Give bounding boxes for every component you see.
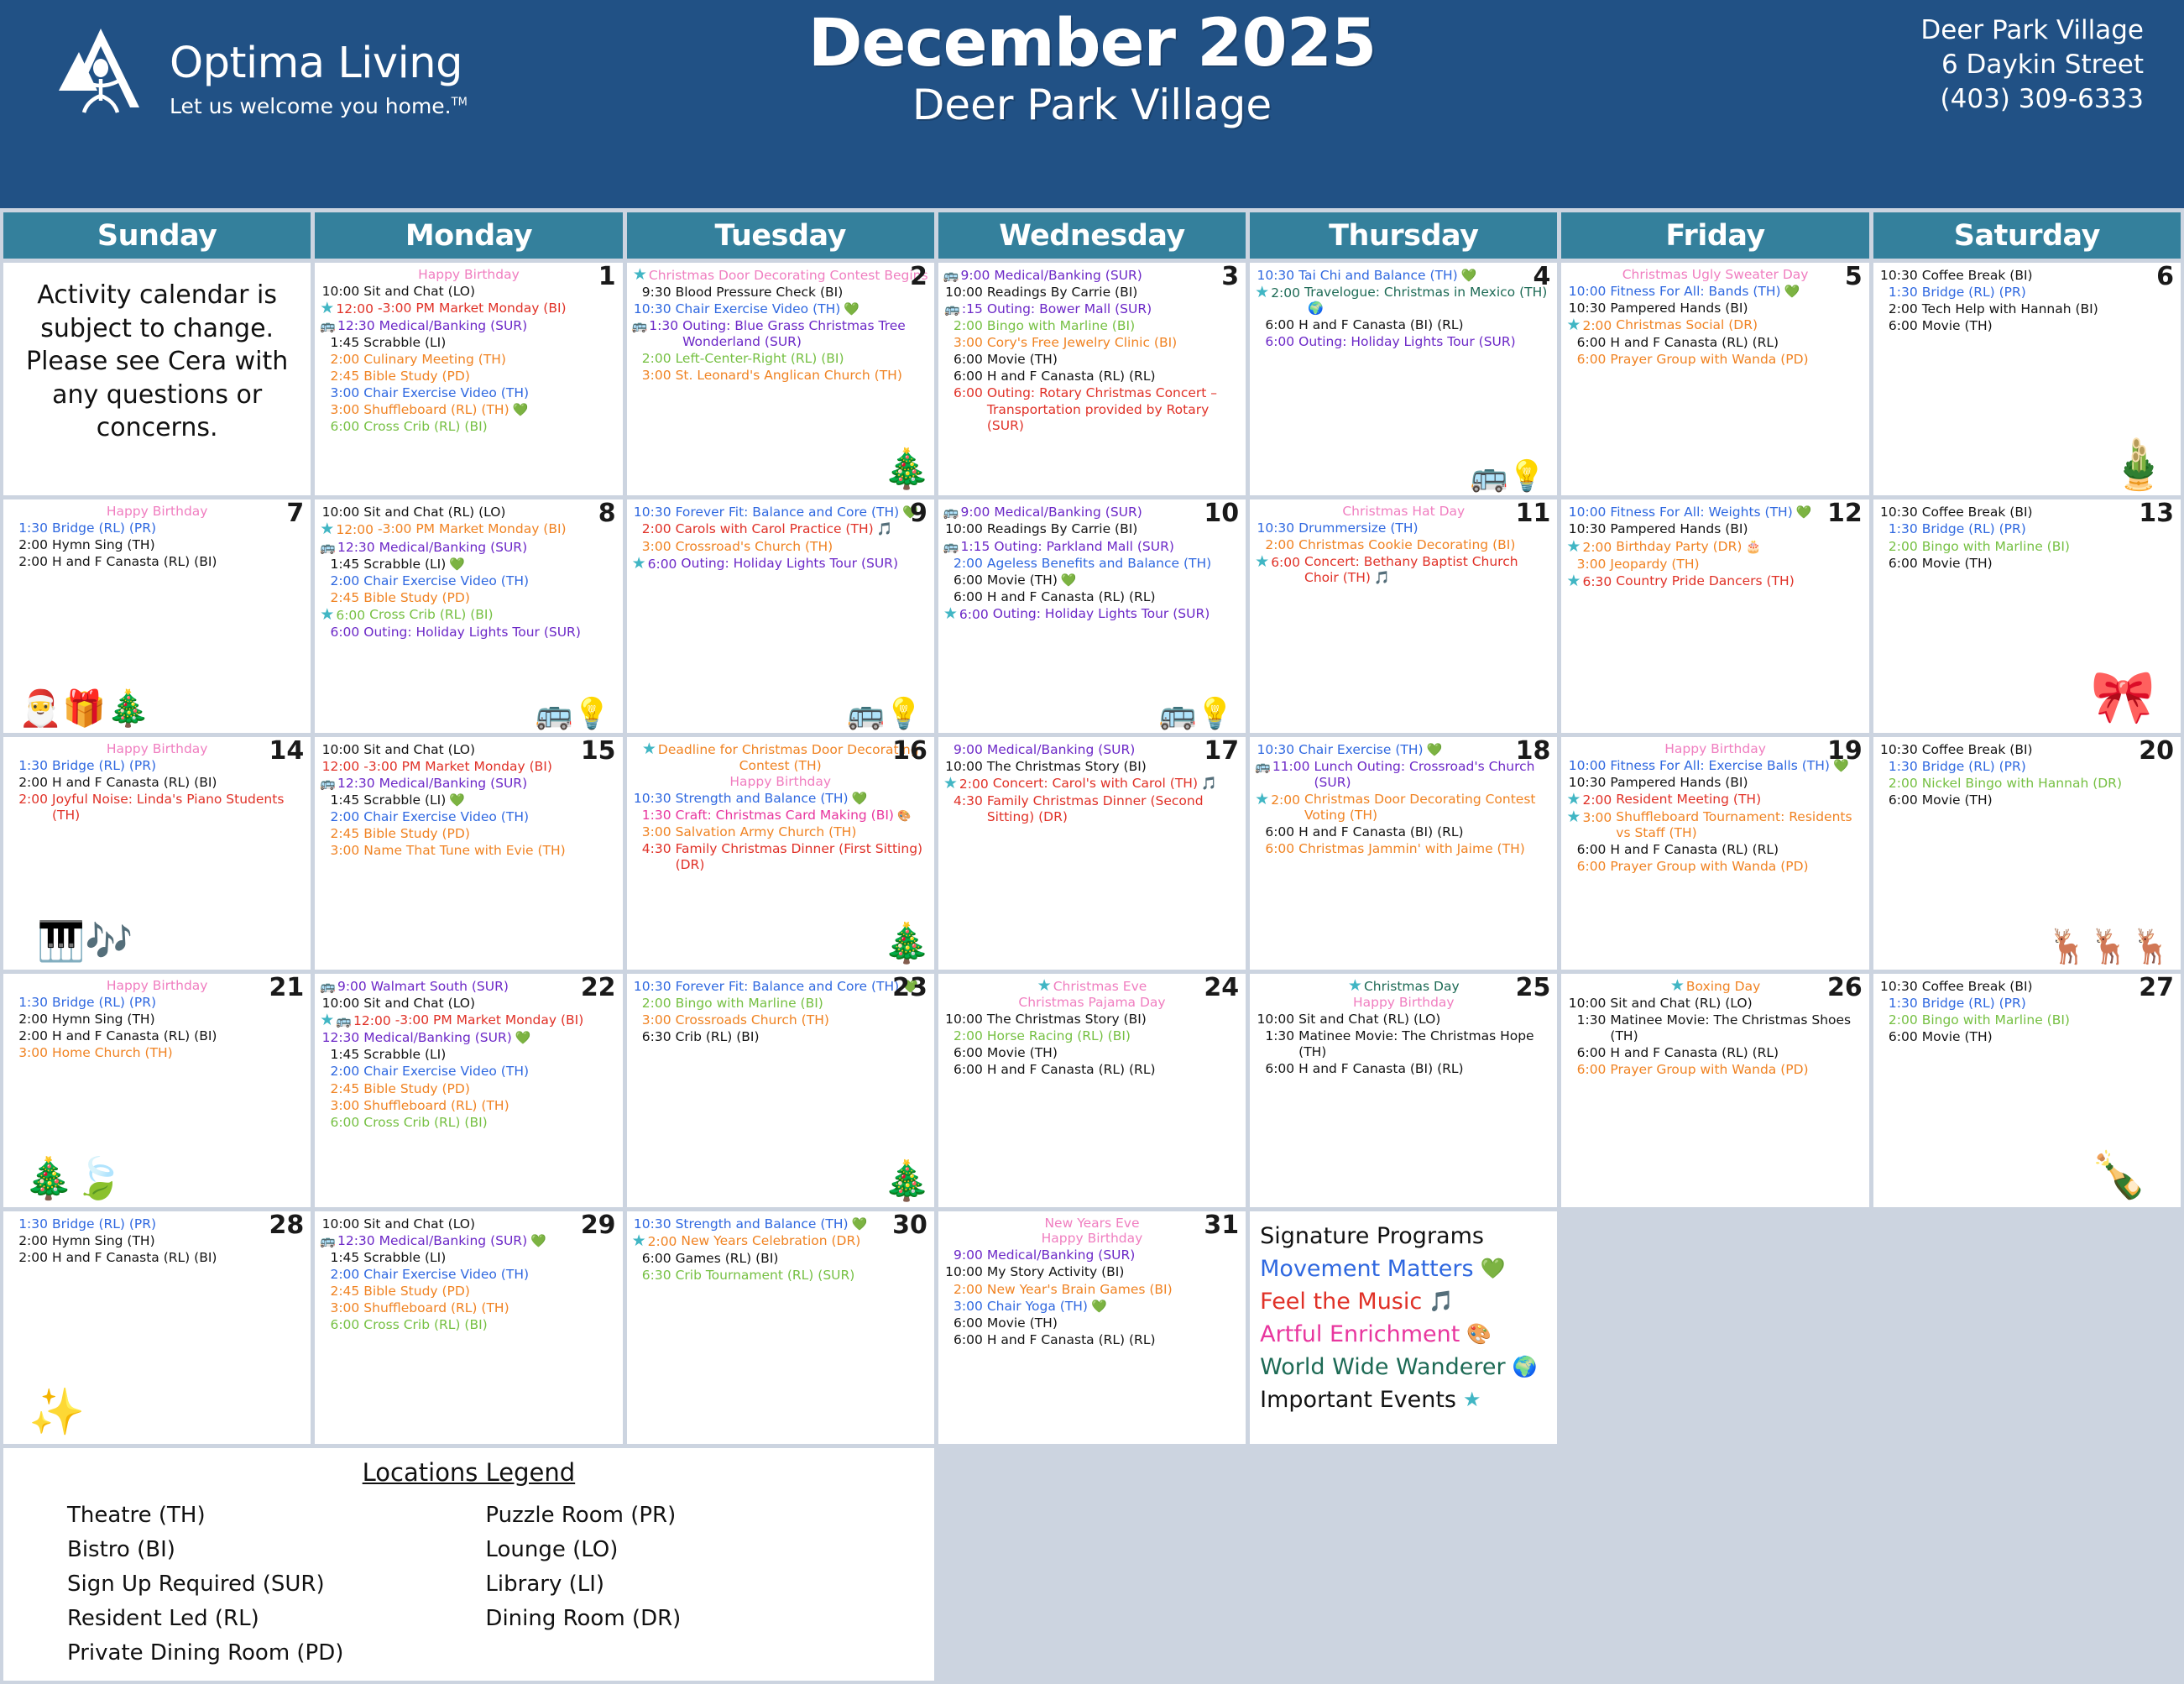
- event-title: Outing: Holiday Lights Tour (SUR): [363, 625, 617, 641]
- event-row[interactable]: 6:00Outing: Holiday Lights Tour (SUR): [1255, 334, 1552, 350]
- event-time: 1:30: [1566, 1012, 1610, 1044]
- event-time: 2:00: [632, 351, 676, 367]
- event-row[interactable]: ★2:00Christmas Social (DR): [1566, 317, 1863, 334]
- bus-icon: 🚌: [943, 539, 959, 554]
- location-legend-item: Private Dining Room (PD): [67, 1636, 452, 1671]
- event-row[interactable]: 6:00H and F Canasta (RL) (RL): [1566, 335, 1863, 351]
- event-row[interactable]: 2:00Chair Exercise Video (TH): [320, 809, 617, 825]
- day-cell-9[interactable]: 910:30Forever Fit: Balance and Core (TH)…: [627, 499, 934, 732]
- event-row[interactable]: 10:30Pampered Hands (BI): [1566, 775, 1863, 791]
- day-cell-20[interactable]: 2010:30Coffee Break (BI)1:30Bridge (RL) …: [1873, 737, 2181, 970]
- event-row[interactable]: 3:00Shuffleboard (RL) (TH)💚: [320, 402, 617, 418]
- day-cell-5[interactable]: 5Christmas Ugly Sweater Day10:00Fitness …: [1561, 263, 1868, 495]
- event-time: 10:00: [943, 1264, 987, 1280]
- event-row[interactable]: 1:45Scrabble (LI): [320, 335, 617, 351]
- day-cell-26[interactable]: 26★Boxing Day10:00Sit and Chat (RL) (LO)…: [1561, 974, 1868, 1206]
- event-title: Bingo with Marline (BI): [1922, 539, 2176, 555]
- event-row[interactable]: 1:30Bridge (RL) (PR): [1878, 996, 2176, 1012]
- event-row[interactable]: 10:00Sit and Chat (RL) (LO): [1255, 1012, 1552, 1028]
- day-cell-17[interactable]: 179:00Medical/Banking (SUR)10:00The Chri…: [938, 737, 1246, 970]
- event-time: 10:30: [632, 979, 676, 995]
- event-time: 2:00: [1878, 539, 1922, 555]
- event-title: Cross Crib (RL) (BI): [369, 607, 617, 624]
- star-icon: ★: [1348, 976, 1362, 995]
- day-cell-19[interactable]: 19Happy Birthday10:00Fitness For All: Ex…: [1561, 737, 1868, 970]
- event-row[interactable]: 2:00Christmas Cookie Decorating (BI): [1255, 537, 1552, 553]
- event-row[interactable]: 1:30Bridge (RL) (PR): [1878, 285, 2176, 301]
- event-row[interactable]: 9:00Medical/Banking (SUR): [943, 1247, 1241, 1263]
- event-row[interactable]: 6:00Prayer Group with Wanda (PD): [1566, 1062, 1863, 1078]
- event-row[interactable]: ★2:00New Years Celebration (DR): [632, 1233, 929, 1250]
- locations-legend-column-1: Theatre (TH)Bistro (BI)Sign Up Required …: [67, 1498, 452, 1671]
- event-row[interactable]: 6:00Movie (TH): [943, 1045, 1241, 1061]
- day-cell-27[interactable]: 2710:30Coffee Break (BI)1:30Bridge (RL) …: [1873, 974, 2181, 1206]
- heart-leaf-icon: 💚: [513, 402, 529, 417]
- event-time: 10:30: [632, 791, 676, 807]
- event-row[interactable]: 2:00H and F Canasta (RL) (BI): [8, 775, 306, 791]
- decorative-merry-icon: 🎄🍃: [24, 1154, 124, 1202]
- day-cell-29[interactable]: 2910:00Sit and Chat (LO)🚌12:30Medical/Ba…: [315, 1211, 622, 1444]
- event-row[interactable]: 3:00Salvation Army Church (TH): [632, 824, 929, 840]
- event-row[interactable]: 3:00Cory's Free Jewelry Clinic (BI): [943, 335, 1241, 351]
- event-row[interactable]: 1:30Bridge (RL) (PR): [8, 758, 306, 774]
- event-time: 6:00: [1566, 1045, 1610, 1061]
- event-row[interactable]: 10:30Strength and Balance (TH)💚: [632, 1216, 929, 1232]
- event-title: Shuffleboard (RL) (TH): [363, 1098, 617, 1114]
- event-row[interactable]: ★2:00Travelogue: Christmas in Mexico (TH…: [1255, 285, 1552, 316]
- event-time: 6:00: [1255, 334, 1298, 350]
- event-row[interactable]: 10:00Readings By Carrie (BI): [943, 285, 1241, 301]
- event-title: Movie (TH)💚: [987, 573, 1241, 588]
- day-cell-10[interactable]: 10🚌9:00Medical/Banking (SUR)10:00Reading…: [938, 499, 1246, 732]
- event-title: H and F Canasta (RL) (BI): [52, 1250, 306, 1266]
- event-row[interactable]: 10:00Sit and Chat (LO): [320, 996, 617, 1012]
- event-row[interactable]: 2:00Tech Help with Hannah (BI): [1878, 301, 2176, 317]
- event-time: 10:00: [943, 1012, 987, 1028]
- day-cell-6[interactable]: 610:30Coffee Break (BI)1:30Bridge (RL) (…: [1873, 263, 2181, 495]
- event-row[interactable]: 10:30Coffee Break (BI): [1878, 268, 2176, 284]
- event-row[interactable]: 6:00H and F Canasta (RL) (RL): [943, 369, 1241, 384]
- day-cell-13[interactable]: 1310:30Coffee Break (BI)1:30Bridge (RL) …: [1873, 499, 2181, 732]
- day-cell-23[interactable]: 2310:30Forever Fit: Balance and Core (TH…: [627, 974, 934, 1206]
- event-row[interactable]: 6:00H and F Canasta (RL) (RL): [1566, 1045, 1863, 1061]
- event-row[interactable]: 🚌1:15Outing: Parkland Mall (SUR): [943, 539, 1241, 555]
- event-time: 6:30: [632, 1029, 676, 1045]
- day-cell-30[interactable]: 3010:30Strength and Balance (TH)💚★2:00Ne…: [627, 1211, 934, 1444]
- event-title: Tech Help with Hannah (BI): [1922, 301, 2176, 317]
- event-row[interactable]: 6:00Cross Crib (RL) (BI): [320, 1115, 617, 1131]
- event-row[interactable]: 2:00Culinary Meeting (TH): [320, 352, 617, 368]
- event-row[interactable]: 2:00H and F Canasta (RL) (BI): [8, 554, 306, 570]
- event-row[interactable]: 🚌9:00Medical/Banking (SUR): [943, 268, 1241, 284]
- event-time: 3:00: [320, 385, 363, 401]
- star-icon: ★: [320, 605, 334, 624]
- event-time: 🚌1:15: [943, 539, 995, 555]
- event-row[interactable]: ★6:00Cross Crib (RL) (BI): [320, 607, 617, 624]
- event-title: Christmas Social (DR): [1616, 317, 1863, 334]
- day-cell-18[interactable]: 1810:30Chair Exercise (TH)💚🚌11:00Lunch O…: [1250, 737, 1557, 970]
- event-row[interactable]: 10:30Chair Exercise (TH)💚: [1255, 742, 1552, 758]
- signature-program-item: Movement Matters💚: [1260, 1253, 1547, 1285]
- event-row[interactable]: 12:00-3:00 PM Market Monday (BI): [320, 759, 617, 775]
- event-row[interactable]: 6:00H and F Canasta (RL) (RL): [1566, 842, 1863, 858]
- event-row[interactable]: ★2:00Christmas Door Decorating Contest V…: [1255, 792, 1552, 824]
- day-banner: Happy Birthday: [943, 1231, 1241, 1247]
- event-row[interactable]: 6:00H and F Canasta (BI) (RL): [1255, 1061, 1552, 1077]
- event-time: 1:30: [632, 808, 676, 824]
- event-row[interactable]: 10:00My Story Activity (BI): [943, 1264, 1241, 1280]
- event-row[interactable]: 6:00H and F Canasta (RL) (RL): [943, 589, 1241, 605]
- signature-programs-title: Signature Programs: [1260, 1220, 1547, 1253]
- event-row[interactable]: 2:45Bible Study (PD): [320, 1081, 617, 1097]
- event-row[interactable]: 6:00Christmas Jammin' with Jaime (TH): [1255, 841, 1552, 857]
- event-title: Chair Exercise Video (TH): [363, 809, 617, 825]
- event-row[interactable]: 2:00Bingo with Marline (BI): [943, 318, 1241, 334]
- day-cell-7[interactable]: 7Happy Birthday1:30Bridge (RL) (PR)2:00H…: [3, 499, 311, 732]
- event-row[interactable]: 10:30Coffee Break (BI): [1878, 742, 2176, 758]
- decorative-champagne-icon: 🍾: [2091, 1149, 2147, 1202]
- event-row[interactable]: 10:00Sit and Chat (RL) (LO): [1566, 996, 1863, 1012]
- day-banner: ★Christmas Eve: [943, 978, 1241, 995]
- event-row[interactable]: 🚌12:30Medical/Banking (SUR): [320, 776, 617, 792]
- day-cell-31[interactable]: 31New Years EveHappy Birthday9:00Medical…: [938, 1211, 1246, 1444]
- event-row[interactable]: 10:00Sit and Chat (LO): [320, 284, 617, 300]
- event-row[interactable]: 4:30Family Christmas Dinner (Second Sitt…: [943, 793, 1241, 825]
- page-header: Optima Living Let us welcome you home.TM…: [0, 0, 2184, 208]
- event-row[interactable]: 10:30Coffee Break (BI): [1878, 979, 2176, 995]
- event-row[interactable]: 10:30Pampered Hands (BI): [1566, 521, 1863, 537]
- star-icon: ★: [1255, 283, 1269, 301]
- event-row[interactable]: 2:00Hymn Sing (TH): [8, 1233, 306, 1249]
- event-row[interactable]: 4:30Family Christmas Dinner (First Sitti…: [632, 841, 929, 873]
- day-number: 21: [269, 975, 305, 1001]
- event-time: 10:00: [320, 284, 363, 300]
- event-row[interactable]: 2:00Bingo with Marline (BI): [632, 996, 929, 1012]
- day-cell-22[interactable]: 22🚌9:00Walmart South (SUR)10:00Sit and C…: [315, 974, 622, 1206]
- event-time: 3:00: [943, 1299, 987, 1315]
- event-title: Crib Tournament (RL) (SUR): [676, 1268, 929, 1284]
- day-cell-3[interactable]: 3🚌9:00Medical/Banking (SUR)10:00Readings…: [938, 263, 1246, 495]
- day-cell-2[interactable]: 2★Christmas Door Decorating Contest Begi…: [627, 263, 934, 495]
- event-time: 2:00: [8, 537, 52, 553]
- event-row[interactable]: 2:00Bingo with Marline (BI): [1878, 1012, 2176, 1028]
- day-cell-15[interactable]: 1510:00Sit and Chat (LO)12:00-3:00 PM Ma…: [315, 737, 622, 970]
- event-row[interactable]: 6:00Prayer Group with Wanda (PD): [1566, 352, 1863, 368]
- day-cell-24[interactable]: 24★Christmas EveChristmas Pajama Day10:0…: [938, 974, 1246, 1206]
- bus-icon: 🚌: [943, 268, 959, 283]
- event-row[interactable]: 2:00H and F Canasta (RL) (BI): [8, 1028, 306, 1044]
- day-cell-8[interactable]: 810:00Sit and Chat (RL) (LO)★12:00-3:00 …: [315, 499, 622, 732]
- event-row[interactable]: ★6:00Outing: Holiday Lights Tour (SUR): [632, 556, 929, 573]
- event-row[interactable]: 1:30Bridge (RL) (PR): [8, 1216, 306, 1232]
- event-row[interactable]: 1:45Scrabble (LI)💚: [320, 792, 617, 808]
- event-row[interactable]: 🚌11:00Lunch Outing: Crossroad's Church (…: [1255, 759, 1552, 791]
- event-row[interactable]: 2:00Chair Exercise Video (TH): [320, 1064, 617, 1080]
- star-icon: ★: [1566, 537, 1581, 556]
- heart-music-icon: 🎵: [1201, 776, 1217, 791]
- event-row[interactable]: ★12:00-3:00 PM Market Monday (BI): [320, 301, 617, 317]
- event-row[interactable]: 6:00Movie (TH): [943, 1315, 1241, 1331]
- event-row[interactable]: 6:00Movie (TH): [1878, 556, 2176, 572]
- event-row[interactable]: 2:00H and F Canasta (RL) (BI): [8, 1250, 306, 1266]
- event-time: 10:30: [1878, 505, 1922, 520]
- event-row[interactable]: 2:00Ageless Benefits and Balance (TH): [943, 556, 1241, 572]
- event-row[interactable]: 6:00Movie (TH): [1878, 792, 2176, 808]
- event-title: Cory's Free Jewelry Clinic (BI): [987, 335, 1241, 351]
- day-cell-14[interactable]: 14Happy Birthday1:30Bridge (RL) (PR)2:00…: [3, 737, 311, 970]
- event-row[interactable]: 2:45Bible Study (PD): [320, 369, 617, 384]
- event-row[interactable]: ★6:00Outing: Holiday Lights Tour (SUR): [943, 606, 1241, 623]
- event-row[interactable]: ★12:00-3:00 PM Market Monday (BI): [320, 521, 617, 538]
- event-row[interactable]: ★2:00Resident Meeting (TH): [1566, 792, 1863, 808]
- event-row[interactable]: 9:00Medical/Banking (SUR): [943, 742, 1241, 758]
- day-number: 13: [2139, 501, 2174, 526]
- event-row[interactable]: 6:00Cross Crib (RL) (BI): [320, 1317, 617, 1333]
- star-icon: ★: [1566, 572, 1581, 590]
- location-legend-item: Library (LI): [485, 1567, 870, 1602]
- event-row[interactable]: 3:00Shuffleboard (RL) (TH): [320, 1098, 617, 1114]
- event-row[interactable]: 10:30Pampered Hands (BI): [1566, 301, 1863, 316]
- optima-living-logo: Optima Living Let us welcome you home.TM: [49, 24, 468, 118]
- heart-leaf-icon: 💚: [1784, 284, 1800, 299]
- event-row[interactable]: 10:00Fitness For All: Exercise Balls (TH…: [1566, 758, 1863, 774]
- calendar-page: Optima Living Let us welcome you home.TM…: [0, 0, 2184, 1405]
- event-row[interactable]: 10:30Strength and Balance (TH)💚: [632, 791, 929, 807]
- day-cell-1[interactable]: 1Happy Birthday10:00Sit and Chat (LO)★12…: [315, 263, 622, 495]
- decorative-wreath-icon: 🎄: [883, 1158, 931, 1204]
- event-title: Cross Crib (RL) (BI): [363, 1317, 617, 1333]
- event-time: 2:00: [320, 809, 363, 825]
- event-title: Outing: Blue Grass Christmas Tree Wonder…: [682, 318, 929, 350]
- event-row[interactable]: 6:00Outing: Holiday Lights Tour (SUR): [320, 625, 617, 641]
- event-title: Outing: Holiday Lights Tour (SUR): [681, 556, 928, 573]
- signature-program-label: World Wide Wanderer: [1260, 1351, 1506, 1383]
- event-row[interactable]: 10:30Chair Exercise Video (TH)💚: [632, 301, 929, 317]
- event-row[interactable]: 3:00Shuffleboard (RL) (TH): [320, 1300, 617, 1316]
- event-title: H and F Canasta (RL) (BI): [52, 554, 306, 570]
- event-row[interactable]: 2:00Hymn Sing (TH): [8, 537, 306, 553]
- event-title: Coffee Break (BI): [1922, 742, 2176, 758]
- event-time: ★2:00: [1255, 285, 1304, 316]
- event-row[interactable]: 3:00Home Church (TH): [8, 1045, 306, 1061]
- event-row[interactable]: 10:30Tai Chi and Balance (TH)💚: [1255, 268, 1552, 284]
- event-row[interactable]: 6:30Crib Tournament (RL) (SUR): [632, 1268, 929, 1284]
- event-row[interactable]: 2:00Horse Racing (RL) (BI): [943, 1028, 1241, 1044]
- event-row[interactable]: 3:00Chair Exercise Video (TH): [320, 385, 617, 401]
- star-icon: ★: [1255, 552, 1269, 571]
- event-row[interactable]: 🚌9:00Walmart South (SUR): [320, 979, 617, 995]
- event-row[interactable]: 1:45Scrabble (LI)💚: [320, 557, 617, 573]
- event-time: 3:00: [320, 1300, 363, 1316]
- event-row[interactable]: 10:00Sit and Chat (LO): [320, 1216, 617, 1232]
- event-row[interactable]: ★2:00Concert: Carol's with Carol (TH)🎵: [943, 776, 1241, 792]
- event-row[interactable]: 3:00Name That Tune with Evie (TH): [320, 843, 617, 859]
- event-row[interactable]: 10:00Sit and Chat (RL) (LO): [320, 505, 617, 520]
- event-title: Travelogue: Christmas in Mexico (TH)🌍: [1304, 285, 1552, 316]
- event-time: 2:45: [320, 369, 363, 384]
- event-row[interactable]: ★🚌12:00-3:00 PM Market Monday (BI): [320, 1012, 617, 1029]
- event-row[interactable]: 2:00Hymn Sing (TH): [8, 1012, 306, 1028]
- weekday-header-friday: Friday: [1561, 212, 1868, 259]
- event-row[interactable]: 2:00Bingo with Marline (BI): [1878, 539, 2176, 555]
- event-row[interactable]: 2:45Bible Study (PD): [320, 590, 617, 606]
- event-row[interactable]: 1:45Scrabble (LI): [320, 1047, 617, 1063]
- event-row[interactable]: 6:00Games (RL) (BI): [632, 1251, 929, 1267]
- event-title: H and F Canasta (RL) (RL): [987, 1062, 1241, 1078]
- event-row[interactable]: 10:00The Christmas Story (BI): [943, 1012, 1241, 1028]
- event-row[interactable]: 2:00Left-Center-Right (RL) (BI): [632, 351, 929, 367]
- event-time: 12:00: [320, 759, 363, 775]
- event-row[interactable]: 10:00The Christmas Story (BI): [943, 759, 1241, 775]
- event-row[interactable]: 1:30Matinee Movie: The Christmas Shoes (…: [1566, 1012, 1863, 1044]
- event-title: Fitness For All: Exercise Balls (TH)💚: [1610, 758, 1863, 774]
- event-row[interactable]: 1:45Scrabble (LI): [320, 1250, 617, 1266]
- event-time: 6:00: [1878, 556, 1922, 572]
- locations-legend-title: Locations Legend: [25, 1458, 912, 1487]
- event-title: Sit and Chat (RL) (LO): [363, 505, 617, 520]
- event-time: 1:30: [8, 995, 52, 1011]
- event-row[interactable]: 🚌1:30Outing: Blue Grass Christmas Tree W…: [632, 318, 929, 350]
- event-row[interactable]: 🚌9:00Medical/Banking (SUR): [943, 505, 1241, 520]
- event-row[interactable]: 10:00Readings By Carrie (BI): [943, 521, 1241, 537]
- day-banner: ★Christmas Day: [1255, 978, 1552, 995]
- event-row[interactable]: 2:00New Year's Brain Games (BI): [943, 1282, 1241, 1298]
- event-row[interactable]: 6:00Outing: Rotary Christmas Concert – T…: [943, 385, 1241, 433]
- event-row[interactable]: 2:00Nickel Bingo with Hannah (DR): [1878, 776, 2176, 792]
- event-row[interactable]: 🚌12:30Medical/Banking (SUR): [320, 318, 617, 334]
- event-row[interactable]: 6:00H and F Canasta (BI) (RL): [1255, 824, 1552, 840]
- event-row[interactable]: ★6:00Concert: Bethany Baptist Church Cho…: [1255, 554, 1552, 586]
- event-row[interactable]: 2:00Joyful Noise: Linda's Piano Students…: [8, 792, 306, 824]
- event-row[interactable]: 10:30Forever Fit: Balance and Core (TH)💚: [632, 505, 929, 520]
- event-title: Coffee Break (BI): [1922, 505, 2176, 520]
- event-row[interactable]: 6:00Prayer Group with Wanda (PD): [1566, 859, 1863, 875]
- day-banner: Happy Birthday: [8, 504, 306, 520]
- event-title: Scrabble (LI)💚: [363, 792, 617, 808]
- event-row[interactable]: 10:30Drummersize (TH): [1255, 520, 1552, 536]
- event-row[interactable]: 10:30Coffee Break (BI): [1878, 505, 2176, 520]
- event-row[interactable]: 2:45Bible Study (PD): [320, 1284, 617, 1300]
- event-time: 6:00: [1255, 317, 1298, 333]
- event-row[interactable]: 6:00H and F Canasta (BI) (RL): [1255, 317, 1552, 333]
- event-row[interactable]: 3:00Jeopardy (TH): [1566, 557, 1863, 573]
- event-row[interactable]: 3:00Crossroad's Church (TH): [632, 539, 929, 555]
- event-row[interactable]: 1:30Bridge (RL) (PR): [8, 520, 306, 536]
- event-row[interactable]: 10:00Sit and Chat (LO): [320, 742, 617, 758]
- event-time: ★2:00: [1255, 792, 1304, 824]
- event-row[interactable]: 2:00Chair Exercise Video (TH): [320, 573, 617, 589]
- event-row[interactable]: 3:00Chair Yoga (TH)💚: [943, 1299, 1241, 1315]
- event-title: Bridge (RL) (PR): [52, 520, 306, 536]
- event-title: Culinary Meeting (TH): [363, 352, 617, 368]
- day-cell-11[interactable]: 11Christmas Hat Day10:30Drummersize (TH)…: [1250, 499, 1557, 732]
- event-row[interactable]: 9:30Blood Pressure Check (BI): [632, 285, 929, 301]
- bus-icon: 🚌: [320, 776, 336, 791]
- event-time: 3:00: [320, 402, 363, 418]
- event-row[interactable]: 1:30Bridge (RL) (PR): [8, 995, 306, 1011]
- day-banner: Happy Birthday: [8, 741, 306, 757]
- event-title: -3:00 PM Market Monday (BI): [378, 521, 618, 538]
- event-time: ★🚌12:00: [320, 1012, 394, 1029]
- event-row[interactable]: 1:30Craft: Christmas Card Making (BI)🎨: [632, 808, 929, 824]
- day-number: 20: [2139, 739, 2174, 764]
- event-title: Sit and Chat (RL) (LO): [1610, 996, 1863, 1012]
- event-title: Movie (TH): [1922, 1029, 2176, 1045]
- event-row[interactable]: 6:00Cross Crib (RL) (BI): [320, 419, 617, 435]
- event-time: ★2:00: [943, 776, 993, 792]
- event-title: Left-Center-Right (RL) (BI): [676, 351, 929, 367]
- day-cell-16[interactable]: 16★Deadline for Christmas Door Decoratin…: [627, 737, 934, 970]
- event-time: 1:45: [320, 1250, 363, 1266]
- event-row[interactable]: 10:30Forever Fit: Balance and Core (TH)💚: [632, 979, 929, 995]
- event-row[interactable]: ★2:00Birthday Party (DR)🎂: [1566, 539, 1863, 556]
- event-row[interactable]: 2:00Chair Exercise Video (TH): [320, 1267, 617, 1283]
- signature-program-item: Feel the Music🎵: [1260, 1285, 1547, 1318]
- weekday-header-saturday: Saturday: [1873, 212, 2181, 259]
- event-row[interactable]: 3:00Crossroads Church (TH): [632, 1012, 929, 1028]
- event-row[interactable]: 6:00H and F Canasta (RL) (RL): [943, 1062, 1241, 1078]
- event-row[interactable]: 6:00H and F Canasta (RL) (RL): [943, 1332, 1241, 1348]
- event-row[interactable]: 🚌12:30Medical/Banking (SUR): [320, 540, 617, 556]
- event-time: ★12:00: [320, 301, 378, 317]
- event-time: 6:00: [1566, 352, 1610, 368]
- day-cell-12[interactable]: 1210:00Fitness For All: Weights (TH)💚10:…: [1561, 499, 1868, 732]
- event-row[interactable]: 3:00St. Leonard's Anglican Church (TH): [632, 368, 929, 384]
- heart-leaf-icon: 💚: [852, 1216, 868, 1232]
- event-time: ★6:00: [320, 607, 369, 624]
- event-row[interactable]: 6:00Movie (TH): [1878, 1029, 2176, 1045]
- day-cell-28[interactable]: 281:30Bridge (RL) (PR)2:00Hymn Sing (TH)…: [3, 1211, 311, 1444]
- star-icon: ★: [943, 774, 958, 792]
- day-cell-4[interactable]: 410:30Tai Chi and Balance (TH)💚★2:00Trav…: [1250, 263, 1557, 495]
- event-row[interactable]: ★6:30Country Pride Dancers (TH): [1566, 573, 1863, 590]
- event-title: Scrabble (LI): [363, 1047, 617, 1063]
- event-title: Family Christmas Dinner (Second Sitting)…: [987, 793, 1241, 825]
- event-row[interactable]: 10:00Fitness For All: Weights (TH)💚: [1566, 505, 1863, 520]
- event-row[interactable]: 12:30Medical/Banking (SUR)💚: [320, 1030, 617, 1046]
- event-title: The Christmas Story (BI): [987, 759, 1241, 775]
- day-cell-21[interactable]: 21Happy Birthday1:30Bridge (RL) (PR)2:00…: [3, 974, 311, 1206]
- event-row[interactable]: 6:30Crib (RL) (BI): [632, 1029, 929, 1045]
- day-banner: Christmas Hat Day: [1255, 504, 1552, 520]
- event-time: 🚌12:30: [320, 776, 379, 792]
- day-cell-25[interactable]: 25★Christmas DayHappy Birthday10:00Sit a…: [1250, 974, 1557, 1206]
- event-title: Bridge (RL) (PR): [1922, 521, 2176, 537]
- event-time: 10:00: [1566, 505, 1610, 520]
- event-row[interactable]: 1:30Bridge (RL) (PR): [1878, 521, 2176, 537]
- event-title: Matinee Movie: The Christmas Shoes (TH): [1610, 1012, 1863, 1044]
- event-row[interactable]: 1:30Matinee Movie: The Christmas Hope (T…: [1255, 1028, 1552, 1060]
- day-banner: Christmas Ugly Sweater Day: [1566, 267, 1863, 283]
- event-row[interactable]: ★3:00Shuffleboard Tournament: Residents …: [1566, 809, 1863, 841]
- event-title: H and F Canasta (RL) (BI): [52, 1028, 306, 1044]
- event-time: 10:30: [632, 505, 676, 520]
- event-row[interactable]: 6:00Movie (TH): [1878, 318, 2176, 334]
- event-row[interactable]: 6:00Movie (TH): [943, 352, 1241, 368]
- event-row[interactable]: 2:00Carols with Carol Practice (TH)🎵: [632, 521, 929, 537]
- event-row[interactable]: 2:45Bible Study (PD): [320, 826, 617, 842]
- event-time: 9:00: [943, 1247, 987, 1263]
- event-row[interactable]: 🚌:15Outing: Bower Mall (SUR): [943, 301, 1241, 317]
- heart-leaf-icon: 💚: [515, 1030, 531, 1045]
- event-row[interactable]: 10:00Fitness For All: Bands (TH)💚: [1566, 284, 1863, 300]
- day-banner: Happy Birthday: [8, 978, 306, 994]
- event-title: Sit and Chat (LO): [363, 1216, 617, 1232]
- event-row[interactable]: 🚌12:30Medical/Banking (SUR)💚: [320, 1233, 617, 1249]
- event-title: Forever Fit: Balance and Core (TH)💚: [676, 979, 929, 995]
- event-row[interactable]: 1:30Bridge (RL) (PR): [1878, 759, 2176, 775]
- event-row[interactable]: 6:00Movie (TH)💚: [943, 573, 1241, 588]
